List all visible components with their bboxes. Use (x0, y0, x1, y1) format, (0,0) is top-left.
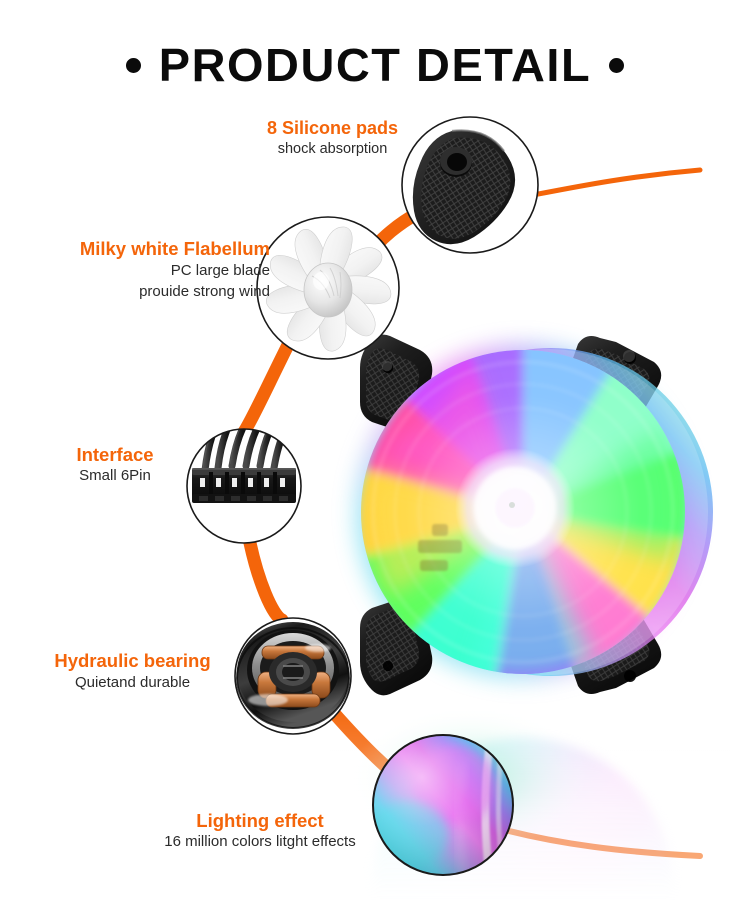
infographic-artwork (0, 0, 750, 900)
callout-circle-silicone-pads (400, 115, 542, 257)
callout-circle-bearing (235, 618, 351, 734)
fan-hub-glow (455, 448, 575, 568)
product-detail-infographic: PRODUCT DETAIL 8 Silicone pads shock abs… (0, 0, 750, 900)
callout-circle-flabellum (257, 217, 399, 359)
